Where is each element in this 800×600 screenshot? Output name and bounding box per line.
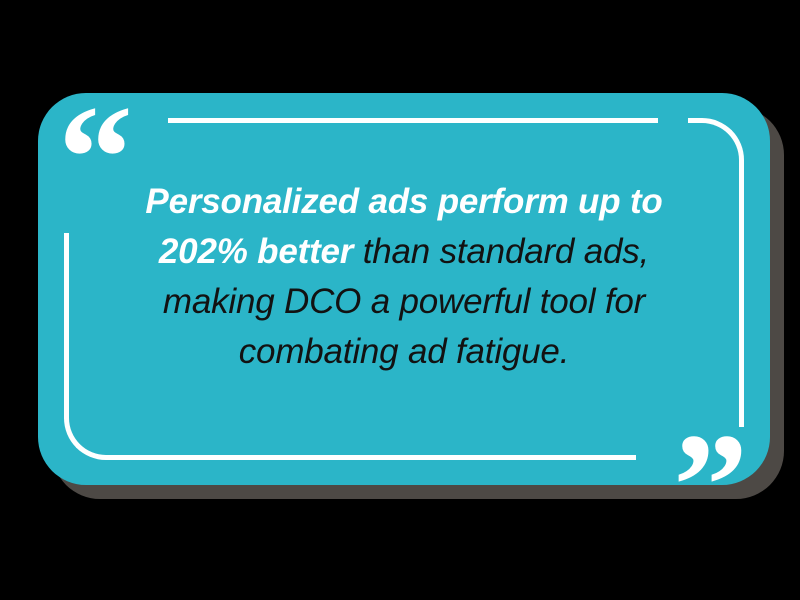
close-quote-icon: ”: [673, 411, 746, 485]
quote-card: “ ” Personalized ads perform up to 202% …: [38, 93, 770, 485]
frame-top-line: [168, 118, 658, 123]
frame-corner-top-right: [688, 118, 744, 174]
frame-left-line: [64, 233, 69, 419]
frame-right-line: [739, 171, 744, 427]
quote-card-canvas: “ ” Personalized ads perform up to 202% …: [0, 0, 800, 600]
frame-corner-bottom-left: [64, 404, 120, 460]
quote-text-block: Personalized ads perform up to 202% bett…: [100, 177, 708, 377]
frame-bottom-line: [116, 455, 636, 460]
